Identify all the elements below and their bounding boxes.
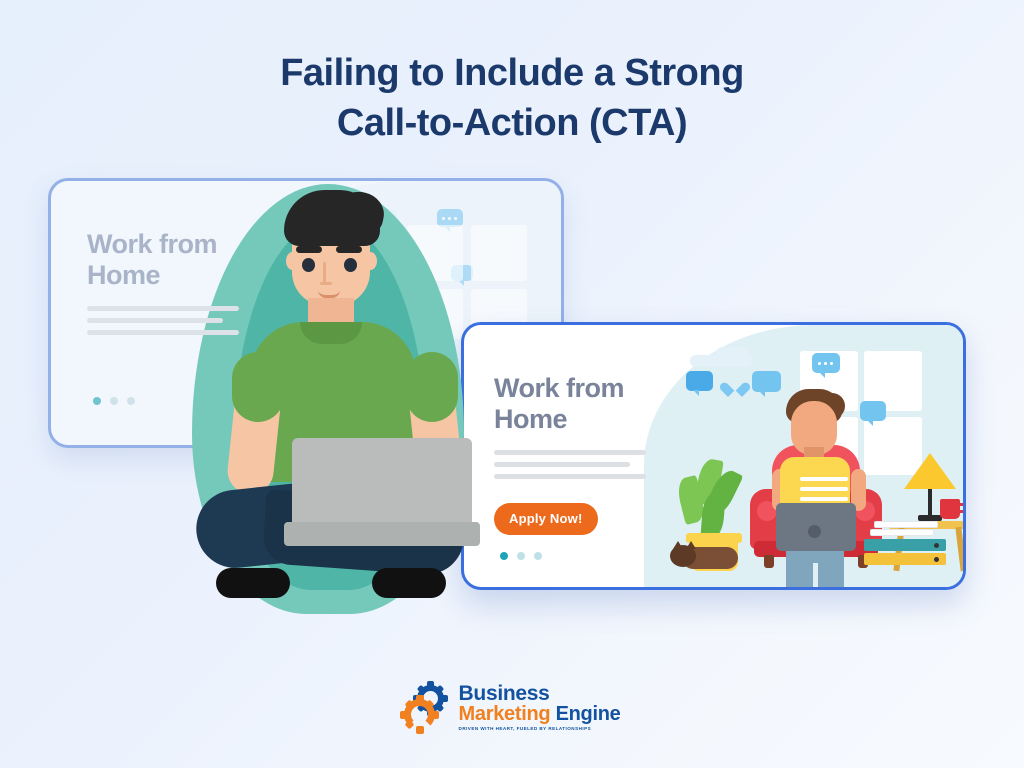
cat (670, 537, 742, 571)
cat-ear (686, 541, 696, 549)
gear-tooth (416, 695, 424, 703)
apply-now-button[interactable]: Apply Now! (494, 503, 598, 535)
front-card-placeholder-lines (494, 450, 646, 479)
like-bubble-icon (686, 371, 713, 391)
seated-person (764, 383, 874, 583)
book (864, 553, 946, 565)
shirt-stripe (800, 487, 848, 491)
eyebrow-right (336, 246, 362, 253)
placeholder-line (87, 330, 239, 335)
coffee-mug (940, 499, 960, 519)
carousel-dot-3[interactable] (127, 397, 135, 405)
leg-gap (813, 563, 818, 590)
stacked-books (864, 521, 950, 571)
logo-line-business: Business (459, 683, 621, 704)
gear-orange-icon (404, 699, 435, 730)
back-card-carousel-dots[interactable] (93, 397, 239, 405)
nose-base (320, 282, 332, 285)
lamp-stem (928, 489, 932, 517)
placeholder-line (87, 318, 223, 323)
gear-tooth (416, 726, 424, 734)
placeholder-line (494, 450, 646, 455)
cloud (716, 347, 748, 361)
logo-line-marketing-engine: Marketing Engine (459, 704, 621, 724)
front-card-inner: Work from Home Apply Now! (464, 325, 963, 587)
front-card-text-column: Work from Home Apply Now! (494, 373, 646, 560)
logo-tagline: DRIVEN WITH HEART, FUELED BY RELATIONSHI… (459, 727, 621, 732)
front-card-heading: Work from Home (494, 373, 646, 436)
placeholder-line (494, 462, 630, 467)
gear-tooth (427, 681, 434, 688)
eye-right (344, 258, 357, 272)
sleeve-right (406, 352, 458, 422)
back-card-placeholder-lines (87, 306, 239, 335)
carousel-dot-3[interactable] (534, 552, 542, 560)
gear-tooth (431, 711, 439, 719)
laptop-logo (808, 525, 821, 538)
title-line-2: Call-to-Action (CTA) (0, 98, 1024, 148)
gear-tooth (441, 695, 448, 702)
logo-word-marketing: Marketing (459, 703, 551, 725)
shirt-stripe (800, 497, 848, 501)
back-card-heading: Work from Home (87, 229, 239, 292)
shoe-right (372, 568, 446, 598)
sleeve-left (232, 352, 284, 422)
chat-bubble-icon (812, 353, 840, 373)
carousel-dot-1[interactable] (93, 397, 101, 405)
shirt-stripe (800, 477, 848, 481)
logo-gears-icon (404, 685, 452, 731)
eyebrow-left (296, 246, 322, 253)
table-leg (955, 527, 966, 571)
laptop-base (284, 522, 480, 546)
title-line-1: Failing to Include a Strong (0, 48, 1024, 98)
nose (323, 262, 326, 284)
paper-sheet (874, 521, 938, 528)
front-card-carousel-dots[interactable] (500, 552, 646, 560)
eye-left (302, 258, 315, 272)
gear-tooth (400, 711, 408, 719)
placeholder-line (87, 306, 239, 311)
front-landing-page-card[interactable]: Work from Home Apply Now! (461, 322, 966, 590)
carousel-dot-1[interactable] (500, 552, 508, 560)
carousel-dot-2[interactable] (110, 397, 118, 405)
logo-wordmark: Business Marketing Engine DRIVEN WITH HE… (459, 683, 621, 732)
mug-handle (959, 503, 966, 513)
book (864, 539, 946, 551)
page-title: Failing to Include a Strong Call-to-Acti… (0, 48, 1024, 148)
back-card-text-column: Work from Home (87, 229, 239, 405)
shoe-left (216, 568, 290, 598)
heart-icon (724, 383, 746, 403)
paper-sheet (870, 529, 934, 536)
carousel-dot-2[interactable] (517, 552, 525, 560)
logo-word-engine: Engine (556, 703, 621, 725)
placeholder-line (494, 474, 646, 479)
cat-ear (673, 541, 683, 549)
floor-lamp-shade (904, 453, 956, 489)
brand-logo: Business Marketing Engine DRIVEN WITH HE… (0, 683, 1024, 732)
